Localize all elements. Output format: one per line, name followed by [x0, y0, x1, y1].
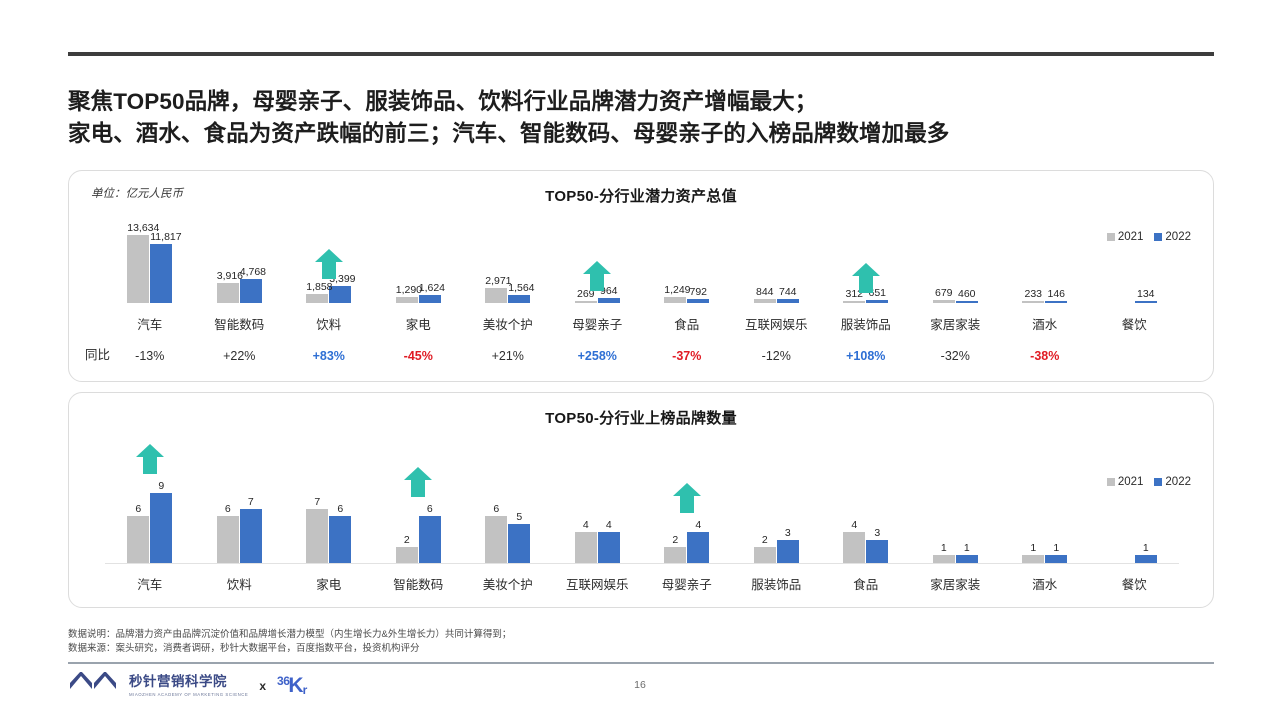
axis-baseline: [105, 563, 1179, 564]
category-column: 1,8583,399饮料+83%: [284, 169, 374, 381]
category-column: 3,9164,768智能数码+22%: [195, 169, 285, 381]
category-label: 互联网娱乐: [732, 314, 822, 333]
category-label: 家电: [374, 314, 464, 333]
footnote-line-1: 数据说明：品牌潜力资产由品牌沉淀价值和品牌增长潜力模型（内生增长力&外生增长力）…: [68, 628, 968, 642]
category-column: 134餐饮: [1090, 169, 1180, 381]
bar-2021: [485, 516, 507, 563]
growth-arrow-up-icon: [403, 466, 433, 498]
bar-2021: [754, 299, 776, 303]
bar-2022: [150, 244, 172, 303]
bar-2021: [127, 235, 149, 303]
bar-2021: [933, 555, 955, 563]
growth-arrow-up-icon: [135, 443, 165, 475]
bar-2021: [127, 516, 149, 563]
category-column: 1,2901,624家电-45%: [374, 169, 464, 381]
yoy-value: -37%: [642, 349, 732, 363]
category-label: 智能数码: [374, 574, 464, 593]
category-column: 65美妆个护: [463, 391, 553, 607]
category-label: 食品: [642, 314, 732, 333]
category-column: 13,63411,817汽车-13%: [105, 169, 195, 381]
category-label: 母婴亲子: [642, 574, 732, 593]
bar-2021: [933, 300, 955, 303]
category-column: 11家居家装: [911, 391, 1001, 607]
category-label: 餐饮: [1090, 574, 1180, 593]
yoy-value: +108%: [821, 349, 911, 363]
footer-divider: [68, 662, 1214, 664]
yoy-value: +21%: [463, 349, 553, 363]
yoy-value: +83%: [284, 349, 374, 363]
category-label: 饮料: [284, 314, 374, 333]
category-label: 食品: [821, 574, 911, 593]
category-column: 2,9711,564美妆个护+21%: [463, 169, 553, 381]
bar-2021: [575, 532, 597, 563]
bar-2022: [1135, 301, 1157, 303]
bar-2021: [306, 509, 328, 563]
yoy-value: -13%: [105, 349, 195, 363]
yoy-value: +22%: [195, 349, 285, 363]
bar-2022: [687, 299, 709, 303]
bar-2022: [777, 540, 799, 563]
headline-line-1: 聚焦TOP50品牌，母婴亲子、服装饰品、饮料行业品牌潜力资产增幅最大；: [68, 86, 1228, 118]
category-column: 269964母婴亲子+258%: [553, 169, 643, 381]
bar-2021: [306, 294, 328, 303]
bar-2022: [687, 532, 709, 563]
bar-2022: [1045, 555, 1067, 563]
yoy-value: +258%: [553, 349, 643, 363]
bar-2021: [485, 288, 507, 303]
category-label: 酒水: [1000, 574, 1090, 593]
bar-2021: [843, 301, 865, 303]
bar-2021: [1022, 555, 1044, 563]
bar-2022: [508, 295, 530, 303]
yoy-value: -45%: [374, 349, 464, 363]
category-column: 844744互联网娱乐-12%: [732, 169, 822, 381]
bar-2021: [217, 283, 239, 303]
category-column: 44互联网娱乐: [553, 391, 643, 607]
category-column: 1,249792食品-37%: [642, 169, 732, 381]
category-column: 11酒水: [1000, 391, 1090, 607]
category-label: 家电: [284, 574, 374, 593]
category-label: 家居家装: [911, 314, 1001, 333]
category-column: 23服装饰品: [732, 391, 822, 607]
category-label: 互联网娱乐: [553, 574, 643, 593]
yoy-value: -32%: [911, 349, 1001, 363]
bar-2022: [240, 279, 262, 303]
bar-2022: [1135, 555, 1157, 563]
page-headline: 聚焦TOP50品牌，母婴亲子、服装饰品、饮料行业品牌潜力资产增幅最大； 家电、酒…: [68, 86, 1228, 150]
category-column: 1餐饮: [1090, 391, 1180, 607]
category-column: 69汽车: [105, 391, 195, 607]
bar-2022: [240, 509, 262, 563]
bar-2021: [754, 547, 776, 563]
chart-card-brands: TOP50-分行业上榜品牌数量 2021 2022 69汽车67饮料76家电26…: [68, 392, 1214, 608]
growth-arrow-up-icon: [314, 248, 344, 280]
headline-line-2: 家电、酒水、食品为资产跌幅的前三；汽车、智能数码、母婴亲子的入榜品牌数增加最多: [68, 118, 1228, 150]
bar-2021: [396, 297, 418, 303]
page-number: 16: [0, 679, 1280, 691]
bar-2022: [1045, 301, 1067, 303]
category-label: 汽车: [105, 574, 195, 593]
category-label: 酒水: [1000, 314, 1090, 333]
category-label: 智能数码: [195, 314, 285, 333]
category-column: 26智能数码: [374, 391, 464, 607]
bar-2022: [956, 301, 978, 303]
category-column: 312651服装饰品+108%: [821, 169, 911, 381]
bar-2022: [419, 516, 441, 563]
category-column: 67饮料: [195, 391, 285, 607]
brand-name-en: MIAOZHEN ACADEMY OF MARKETING SCIENCE: [129, 691, 248, 698]
bar-2022: [150, 493, 172, 563]
category-column: 43食品: [821, 391, 911, 607]
footnote-line-2: 数据来源：案头研究，消费者调研，秒针大数据平台，百度指数平台，投资机构评分: [68, 642, 968, 656]
yoy-value: -38%: [1000, 349, 1090, 363]
bar-2021: [217, 516, 239, 563]
category-column: 679460家居家装-32%: [911, 169, 1001, 381]
category-label: 母婴亲子: [553, 314, 643, 333]
bar-2021: [843, 532, 865, 563]
bar-2022: [866, 540, 888, 563]
category-column: 233146酒水-38%: [1000, 169, 1090, 381]
bar-2021: [575, 301, 597, 303]
bar-2022: [598, 298, 620, 303]
plot-area-brands: 69汽车67饮料76家电26智能数码65美妆个护44互联网娱乐24母婴亲子23服…: [69, 393, 1213, 607]
category-column: 24母婴亲子: [642, 391, 732, 607]
bar-2021: [664, 297, 686, 303]
growth-arrow-up-icon: [582, 260, 612, 292]
category-column: 76家电: [284, 391, 374, 607]
plot-area-assets: 13,63411,817汽车-13%3,9164,768智能数码+22%1,85…: [69, 171, 1213, 381]
category-label: 美妆个护: [463, 574, 553, 593]
category-label: 服装饰品: [821, 314, 911, 333]
category-label: 家居家装: [911, 574, 1001, 593]
bar-2021: [1022, 301, 1044, 303]
yoy-value: -12%: [732, 349, 822, 363]
bar-2022: [508, 524, 530, 563]
bar-2022: [956, 555, 978, 563]
footnotes: 数据说明：品牌潜力资产由品牌沉淀价值和品牌增长潜力模型（内生增长力&外生增长力）…: [68, 628, 968, 656]
category-label: 美妆个护: [463, 314, 553, 333]
bar-2021: [664, 547, 686, 563]
bar-2022: [419, 295, 441, 303]
bar-2021: [396, 547, 418, 563]
top-divider: [68, 52, 1214, 56]
bar-2022: [329, 516, 351, 563]
bar-2022: [598, 532, 620, 563]
category-label: 餐饮: [1090, 314, 1180, 333]
category-label: 饮料: [195, 574, 285, 593]
chart-card-assets: 单位：亿元人民币 TOP50-分行业潜力资产总值 2021 2022 同比 13…: [68, 170, 1214, 382]
category-label: 服装饰品: [732, 574, 822, 593]
bar-2022: [777, 299, 799, 303]
growth-arrow-up-icon: [851, 262, 881, 294]
bar-2022: [866, 300, 888, 303]
bar-2022: [329, 286, 351, 303]
growth-arrow-up-icon: [672, 482, 702, 514]
category-label: 汽车: [105, 314, 195, 333]
